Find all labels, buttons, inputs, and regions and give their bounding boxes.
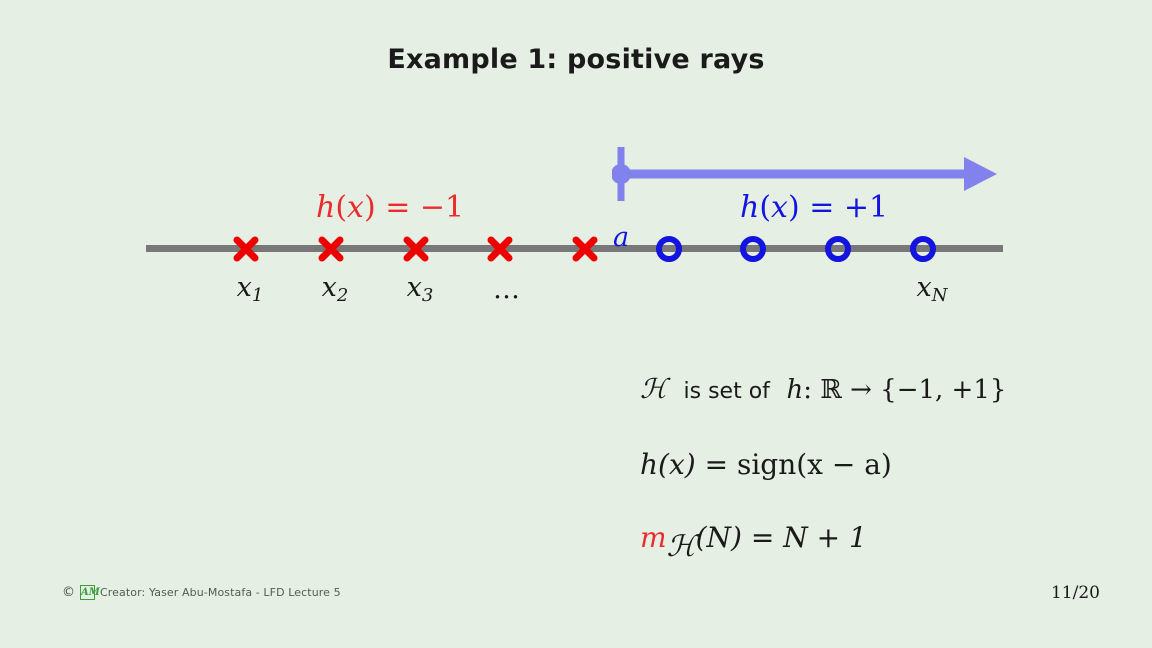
author-logo-icon: AM bbox=[80, 585, 95, 600]
circle-outline-icon bbox=[653, 233, 685, 265]
copyright-icon: © bbox=[62, 586, 75, 599]
formula-hypothesis-definition: h(x) = sign(x − a) bbox=[640, 448, 892, 481]
point-label-ellipsis: … bbox=[448, 274, 568, 305]
point-label-xN: xN bbox=[872, 272, 992, 306]
circle-outline-icon bbox=[907, 233, 939, 265]
x-cross-icon bbox=[484, 233, 516, 265]
formula-growth-function: mℋ(N) = N + 1 bbox=[640, 521, 867, 563]
page-title: Example 1: positive rays bbox=[0, 44, 1152, 75]
x-cross-icon bbox=[400, 233, 432, 265]
x-cross-icon bbox=[569, 233, 601, 265]
formula-hypothesis-set: ℋ is set of h: ℝ → {−1, +1} bbox=[640, 374, 1006, 405]
footer: © AM Creator: Yaser Abu-Mostafa - LFD Le… bbox=[62, 585, 341, 600]
threshold-label-a: a bbox=[613, 222, 629, 253]
circle-outline-icon bbox=[822, 233, 854, 265]
x-cross-icon bbox=[230, 233, 262, 265]
hypothesis-negative-label: h(x) = −1 bbox=[316, 190, 464, 225]
positive-ray-arrow bbox=[612, 144, 1002, 206]
page-number: 11/20 bbox=[1051, 583, 1100, 603]
slide-canvas: Example 1: positive rays h(x) = −1 h(x) … bbox=[0, 0, 1152, 648]
x-cross-icon bbox=[315, 233, 347, 265]
circle-outline-icon bbox=[737, 233, 769, 265]
footer-credit: Creator: Yaser Abu-Mostafa - LFD Lecture… bbox=[100, 586, 341, 599]
